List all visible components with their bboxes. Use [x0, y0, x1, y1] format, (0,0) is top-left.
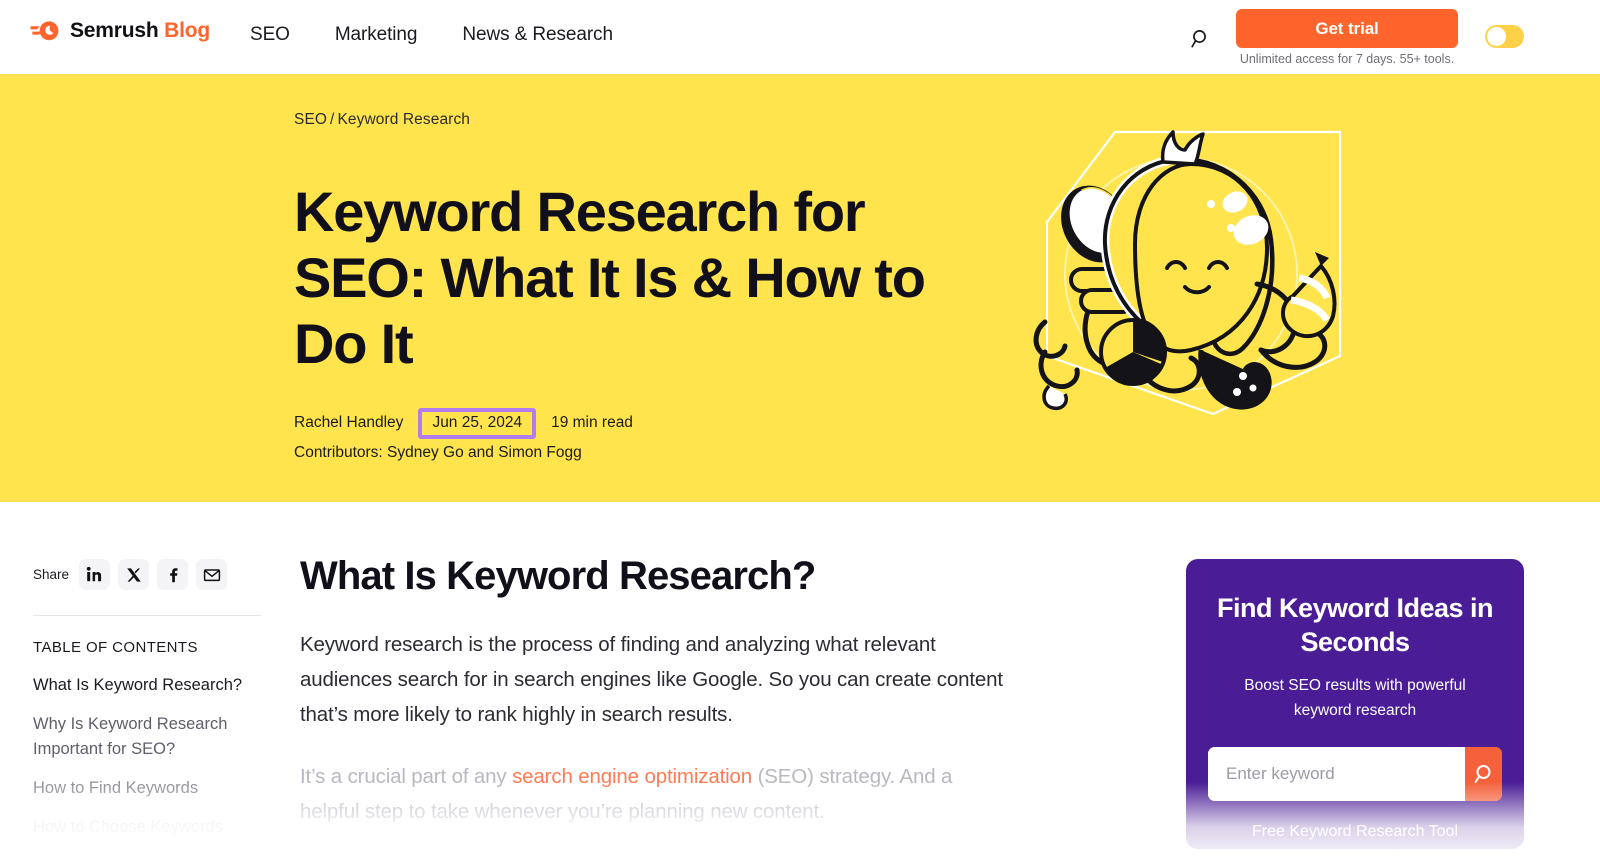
article-date-highlighted: Jun 25, 2024 [418, 408, 536, 439]
primary-nav: SEO Marketing News & Research [250, 24, 613, 46]
page-title: Keyword Research for SEO: What It Is & H… [294, 179, 934, 377]
promo-search-button[interactable] [1465, 747, 1502, 801]
promo-subtitle: Boost SEO results with powerful keyword … [1216, 673, 1494, 723]
breadcrumb-parent[interactable]: SEO [294, 111, 327, 128]
logo-wordmark: Semrush Blog [70, 19, 210, 43]
theme-toggle[interactable] [1485, 25, 1524, 48]
site-header: Semrush Blog SEO Marketing News & Resear… [0, 0, 1600, 74]
email-icon[interactable] [196, 559, 227, 590]
get-trial-subtext: Unlimited access for 7 days. 55+ tools. [1236, 52, 1458, 66]
section-heading: What Is Keyword Research? [300, 552, 1012, 600]
nav-item-seo[interactable]: SEO [250, 24, 290, 46]
hero-banner: SEO/Keyword Research Keyword Research fo… [0, 74, 1600, 502]
left-rail: Share [33, 559, 261, 840]
search-icon [1473, 763, 1495, 785]
breadcrumb-separator: / [330, 111, 334, 128]
article-paragraph-1: Keyword research is the process of findi… [300, 627, 1012, 732]
toc-list: What Is Keyword Research? Why Is Keyword… [33, 673, 261, 840]
blog-article-page: Semrush Blog SEO Marketing News & Resear… [0, 0, 1600, 864]
linkedin-icon[interactable] [79, 559, 110, 590]
promo-title: Find Keyword Ideas in Seconds [1210, 591, 1500, 659]
share-label: Share [33, 567, 69, 582]
promo-footnote: Free Keyword Research Tool [1186, 823, 1524, 841]
search-engine-optimization-link[interactable]: search engine optimization [512, 765, 752, 788]
article-contributors: Contributors: Sydney Go and Simon Fogg [294, 444, 582, 462]
toc-item-what-is-keyword-research[interactable]: What Is Keyword Research? [33, 673, 261, 698]
x-twitter-icon[interactable] [118, 559, 149, 590]
breadcrumb: SEO/Keyword Research [294, 111, 470, 129]
article-author: Rachel Handley [294, 414, 403, 432]
toc-item-how-to-choose-keywords[interactable]: How to Choose Keywords [33, 815, 261, 840]
logo-section: Blog [164, 19, 210, 42]
nav-item-news-research[interactable]: News & Research [462, 24, 613, 46]
toc-item-how-to-find-keywords[interactable]: How to Find Keywords [33, 776, 261, 801]
search-icon[interactable] [1188, 26, 1214, 52]
keyword-tool-promo-card: Find Keyword Ideas in Seconds Boost SEO … [1186, 559, 1524, 849]
get-trial-block: Get trial Unlimited access for 7 days. 5… [1236, 9, 1458, 66]
article-read-time: 19 min read [551, 414, 633, 432]
nav-item-marketing[interactable]: Marketing [335, 24, 418, 46]
rail-divider [33, 615, 261, 616]
semrush-blog-logo[interactable]: Semrush Blog [30, 19, 210, 43]
toc-heading: TABLE OF CONTENTS [33, 639, 261, 656]
promo-search-form [1208, 747, 1502, 801]
get-trial-button[interactable]: Get trial [1236, 9, 1458, 48]
logo-brand: Semrush [70, 19, 158, 42]
share-row: Share [33, 559, 261, 590]
semrush-comet-icon [30, 19, 61, 43]
article-meta: Rachel Handley Jun 25, 2024 19 min read [294, 408, 633, 439]
main-content: Share [0, 502, 1600, 864]
breadcrumb-current[interactable]: Keyword Research [337, 111, 470, 128]
paragraph-2-pre: It’s a crucial part of any [300, 765, 512, 788]
article-body: What Is Keyword Research? Keyword resear… [300, 552, 1012, 829]
article-paragraph-2: It’s a crucial part of any search engine… [300, 759, 1012, 829]
octopus-with-magnifier-illustration [985, 124, 1345, 424]
toggle-knob [1487, 27, 1506, 46]
toc-item-why-is-keyword-research-important[interactable]: Why Is Keyword Research Important for SE… [33, 712, 261, 762]
facebook-icon[interactable] [157, 559, 188, 590]
keyword-input[interactable] [1208, 747, 1465, 801]
